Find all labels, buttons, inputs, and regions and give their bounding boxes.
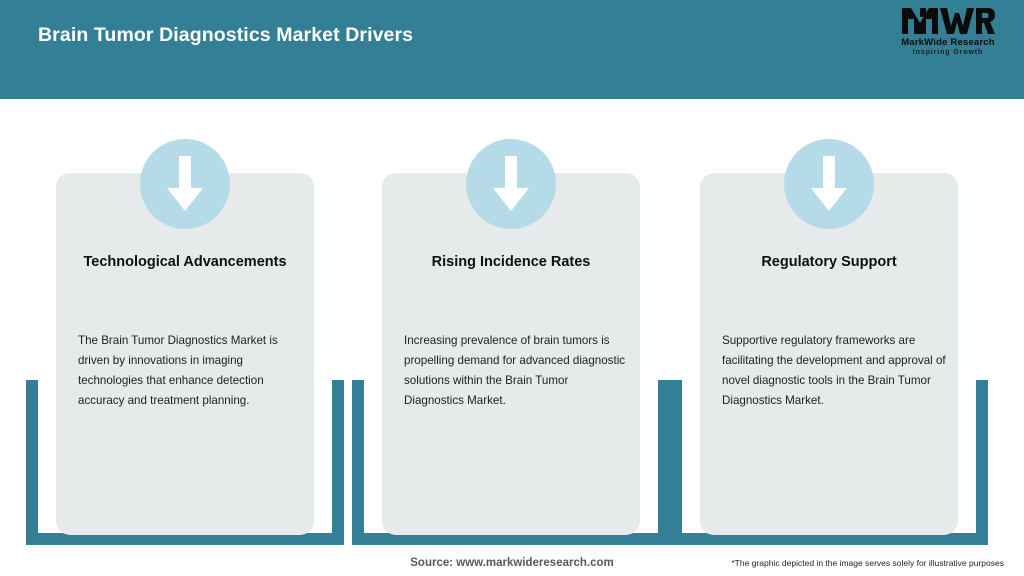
card-title: Rising Incidence Rates — [382, 253, 640, 271]
card-title: Regulatory Support — [700, 253, 958, 271]
card-body-text: Increasing prevalence of brain tumors is… — [404, 331, 629, 411]
header-banner: Brain Tumor Diagnostics Market Drivers M… — [0, 0, 1024, 99]
card-body-text: The Brain Tumor Diagnostics Market is dr… — [78, 331, 303, 411]
arrow-down-icon — [466, 139, 556, 229]
logo-company-name: MarkWide Research — [888, 37, 1008, 48]
arrow-down-icon — [140, 139, 230, 229]
arrow-down-icon — [784, 139, 874, 229]
card-body-text: Supportive regulatory frameworks are fac… — [722, 331, 947, 411]
brand-logo: MarkWide Research Inspiring Growth — [888, 6, 1008, 62]
driver-card-2: Rising Incidence Rates Increasing preval… — [352, 99, 670, 539]
disclaimer-label: *The graphic depicted in the image serve… — [731, 558, 1004, 569]
driver-card-3: Regulatory Support Supportive regulatory… — [670, 99, 988, 539]
drivers-card-grid: Technological Advancements The Brain Tum… — [0, 99, 1024, 539]
page-title: Brain Tumor Diagnostics Market Drivers — [38, 24, 413, 47]
mwr-monogram-icon — [888, 6, 1008, 36]
driver-card-1: Technological Advancements The Brain Tum… — [26, 99, 344, 539]
logo-tagline: Inspiring Growth — [888, 48, 1008, 57]
card-title: Technological Advancements — [56, 253, 314, 271]
